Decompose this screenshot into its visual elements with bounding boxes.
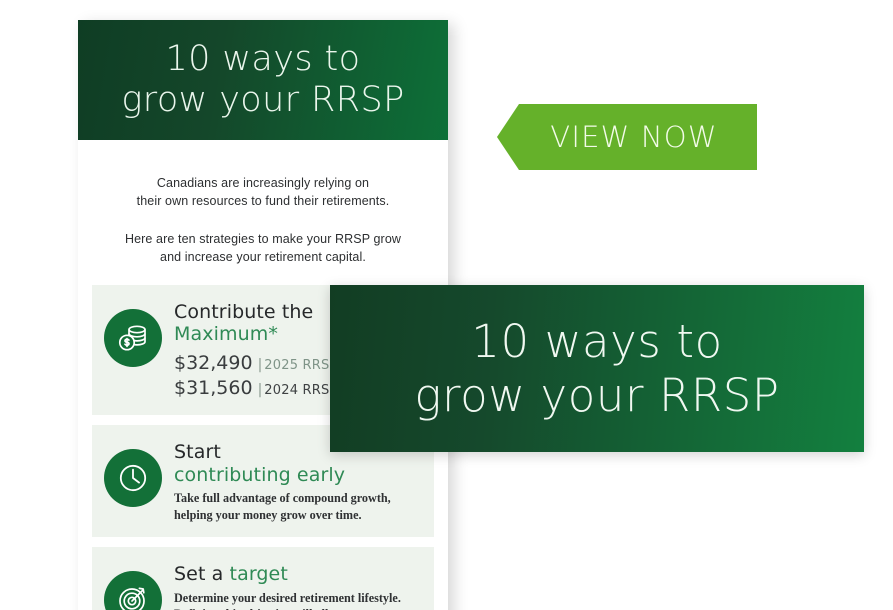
- intro-paragraph-2: Here are ten strategies to make your RRS…: [78, 230, 448, 266]
- tip-heading-line1: Contribute the: [174, 301, 313, 323]
- clock-icon: [104, 449, 162, 507]
- view-now-button-label: VIEW NOW: [550, 120, 717, 154]
- tip-heading-line2: contributing early: [174, 464, 345, 486]
- contribution-label-2025: 2025 RRSP: [264, 358, 337, 373]
- contribution-amount-2025: $32,490: [174, 352, 253, 374]
- tip-card-set-a-target[interactable]: Set a target Determine your desired reti…: [92, 547, 434, 610]
- contribution-separator-2024: |: [253, 382, 265, 398]
- tip-heading-line1: Start: [174, 441, 221, 463]
- contribution-separator-2025: |: [253, 357, 265, 373]
- view-now-button[interactable]: VIEW NOW: [497, 104, 757, 170]
- overlay-panel-title-line2: grow your RRSP: [414, 369, 779, 422]
- tip-heading-plain: Set a: [174, 563, 230, 585]
- coins-icon: [104, 309, 162, 367]
- intro-paragraph-2-line2: and increase your retirement capital.: [78, 248, 448, 266]
- flyer-hero-title-line2: grow your RRSP: [121, 80, 404, 121]
- tip-heading-line2: Maximum*: [174, 323, 278, 345]
- tip-description-set-a-target: Determine your desired retirement lifest…: [174, 590, 422, 610]
- target-icon: [104, 571, 162, 610]
- flyer-hero-title-line1: 10 ways to: [121, 39, 404, 80]
- overlay-panel-title: 10 ways to grow your RRSP: [414, 315, 779, 421]
- tip-text-set-a-target: Set a target Determine your desired reti…: [174, 561, 422, 610]
- tip-heading-accent: target: [230, 563, 288, 585]
- tip-heading-set-a-target: Set a target: [174, 563, 422, 585]
- flyer-hero-title: 10 ways to grow your RRSP: [121, 39, 404, 122]
- tip-description-contributing-early: Take full advantage of compound growth, …: [174, 490, 422, 523]
- intro-paragraph-1-line1: Canadians are increasingly relying on: [78, 174, 448, 192]
- contribution-amount-2024: $31,560: [174, 377, 253, 399]
- intro-paragraph-1-line2: their own resources to fund their retire…: [78, 192, 448, 210]
- intro-paragraph-2-line1: Here are ten strategies to make your RRS…: [78, 230, 448, 248]
- overlay-panel-title-line1: 10 ways to: [414, 315, 779, 368]
- tip-text-contributing-early: Start contributing early Take full advan…: [174, 439, 422, 523]
- intro-paragraph-1: Canadians are increasingly relying on th…: [78, 174, 448, 210]
- screenshot-canvas: 10 ways to grow your RRSP Canadians are …: [0, 0, 893, 610]
- flyer-header-banner: 10 ways to grow your RRSP: [78, 20, 448, 140]
- overlay-title-panel: 10 ways to grow your RRSP: [330, 285, 864, 452]
- contribution-label-2024: 2024 RRSP: [264, 383, 337, 398]
